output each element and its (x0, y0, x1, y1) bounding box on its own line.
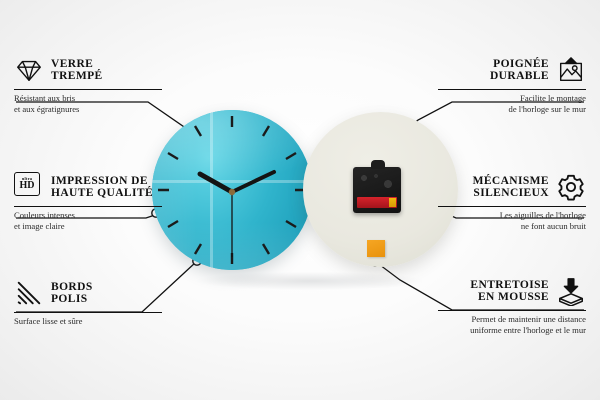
clock-hands-and-ticks (152, 110, 312, 270)
gear-icon (556, 172, 586, 202)
feature-entretoise-en-mousse: ENTRETOISE EN MOUSSE Permet de maintenir… (438, 276, 586, 335)
feature-poignee-durable: POIGNÉE DURABLE Facilite le montage de l… (438, 55, 586, 114)
battery (357, 197, 397, 208)
feature-impression-haute-qualite: ultra HD IMPRESSION DE HAUTE QUALITÉ Cou… (14, 172, 162, 231)
feature-subtitle-line1: Résistant aux bris (14, 93, 162, 103)
hanging-picture-icon (556, 55, 586, 85)
diamond-icon (14, 55, 44, 85)
feature-divider (438, 310, 586, 311)
clock-mechanism (353, 167, 401, 213)
feature-subtitle-line2: et image claire (14, 221, 162, 231)
mechanism-hanger-tab (371, 160, 385, 169)
feature-subtitle-line1: Couleurs intenses (14, 210, 162, 220)
hd-label: HD (20, 181, 35, 191)
foam-spacer (367, 240, 385, 257)
wall-clock-front (152, 110, 312, 270)
mechanism-detail (358, 172, 396, 194)
feature-header: BORDS POLIS (14, 278, 162, 308)
ultra-hd-badge-icon: ultra HD (14, 172, 44, 202)
polished-edge-icon (14, 278, 44, 308)
feature-subtitle-line1: Permet de maintenir une distance (438, 314, 586, 324)
feature-title: IMPRESSION DE HAUTE QUALITÉ (51, 175, 153, 200)
feature-header: ultra HD IMPRESSION DE HAUTE QUALITÉ (14, 172, 162, 202)
feature-subtitle-line1: Facilite le montage (438, 93, 586, 103)
feature-verre-trempe: VERRE TREMPÉ Résistant aux bris et aux é… (14, 55, 162, 114)
feature-divider (14, 312, 162, 313)
feature-header: POIGNÉE DURABLE (438, 55, 586, 85)
feature-divider (14, 89, 162, 90)
feature-subtitle-line2: de l'horloge sur le mur (438, 104, 586, 114)
feature-subtitle-line2: ne font aucun bruit (438, 221, 586, 231)
infographic-canvas: VERRE TREMPÉ Résistant aux bris et aux é… (0, 0, 600, 400)
feature-title: VERRE TREMPÉ (51, 58, 103, 83)
feature-header: ENTRETOISE EN MOUSSE (438, 276, 586, 306)
feature-mecanisme-silencieux: MÉCANISME SILENCIEUX Les aiguilles de l'… (438, 172, 586, 231)
feature-divider (438, 89, 586, 90)
product-shadow (150, 268, 470, 294)
feature-divider (438, 206, 586, 207)
wall-clock-back (303, 112, 458, 267)
feature-subtitle-line2: et aux égratignures (14, 104, 162, 114)
foam-spacer-icon (556, 276, 586, 306)
feature-bords-polis: BORDS POLIS Surface lisse et sûre (14, 278, 162, 327)
feature-title: POIGNÉE DURABLE (490, 58, 549, 83)
feature-subtitle-line1: Surface lisse et sûre (14, 316, 162, 326)
feature-header: MÉCANISME SILENCIEUX (438, 172, 586, 202)
feature-subtitle-line2: uniforme entre l'horloge et le mur (438, 325, 586, 335)
feature-title: BORDS POLIS (51, 281, 93, 306)
feature-subtitle-line1: Les aiguilles de l'horloge (438, 210, 586, 220)
feature-title: MÉCANISME SILENCIEUX (473, 175, 549, 200)
feature-title: ENTRETOISE EN MOUSSE (470, 279, 549, 304)
feature-header: VERRE TREMPÉ (14, 55, 162, 85)
feature-divider (14, 206, 162, 207)
